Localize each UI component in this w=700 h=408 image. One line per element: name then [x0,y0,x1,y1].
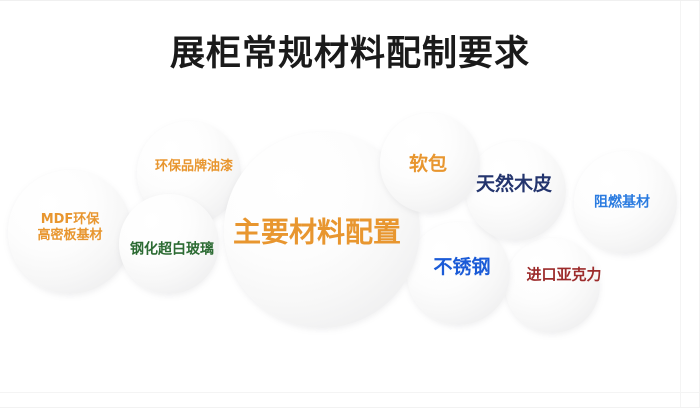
bubble-label-main: 主要材料配置 [233,215,401,250]
bubble-label-line: 主要材料配置 [233,215,401,250]
bubble-label-line: 软包 [409,153,447,177]
bubble-label-line: 进口亚克力 [526,266,601,285]
bubble-label-flame-retardant: 阻燃基材 [594,194,650,212]
page-title: 展柜常规材料配制要求 [0,25,700,76]
bubble-stainless[interactable]: 不锈钢 [407,222,510,325]
bubble-acrylic[interactable]: 进口亚克力 [505,238,600,333]
bubble-label-line: 不锈钢 [433,256,490,280]
bubble-label-paint: 环保品牌油漆 [155,159,233,175]
frame-divider-bottom [0,392,700,393]
bubble-mdf[interactable]: MDF环保高密板基材 [8,170,132,294]
bubble-label-acrylic: 进口亚克力 [526,266,601,285]
bubble-label-soft-pack: 软包 [409,153,447,177]
bubble-label-line: 环保品牌油漆 [155,159,233,175]
bubble-label-line: 阻燃基材 [594,194,650,212]
bubble-label-glass: 钢化超白玻璃 [130,241,214,259]
bubble-veneer[interactable]: 天然木皮 [466,141,566,241]
bubble-label-line: 钢化超白玻璃 [130,241,214,259]
bubble-label-line: 天然木皮 [476,173,552,197]
bubble-soft-pack[interactable]: 软包 [380,113,480,213]
bubble-label-mdf: MDF环保高密板基材 [37,212,102,245]
bubble-label-line: MDF环保 [37,212,102,228]
bubble-glass[interactable]: 钢化超白玻璃 [119,194,219,294]
bubble-flame-retardant[interactable]: 阻燃基材 [574,151,677,254]
slide-canvas: 展柜常规材料配制要求 MDF环保高密板基材环保品牌油漆钢化超白玻璃主要材料配置软… [0,0,700,408]
bubble-label-veneer: 天然木皮 [476,173,552,197]
bubble-label-line: 高密板基材 [37,228,102,244]
bubble-label-stainless: 不锈钢 [433,256,490,280]
